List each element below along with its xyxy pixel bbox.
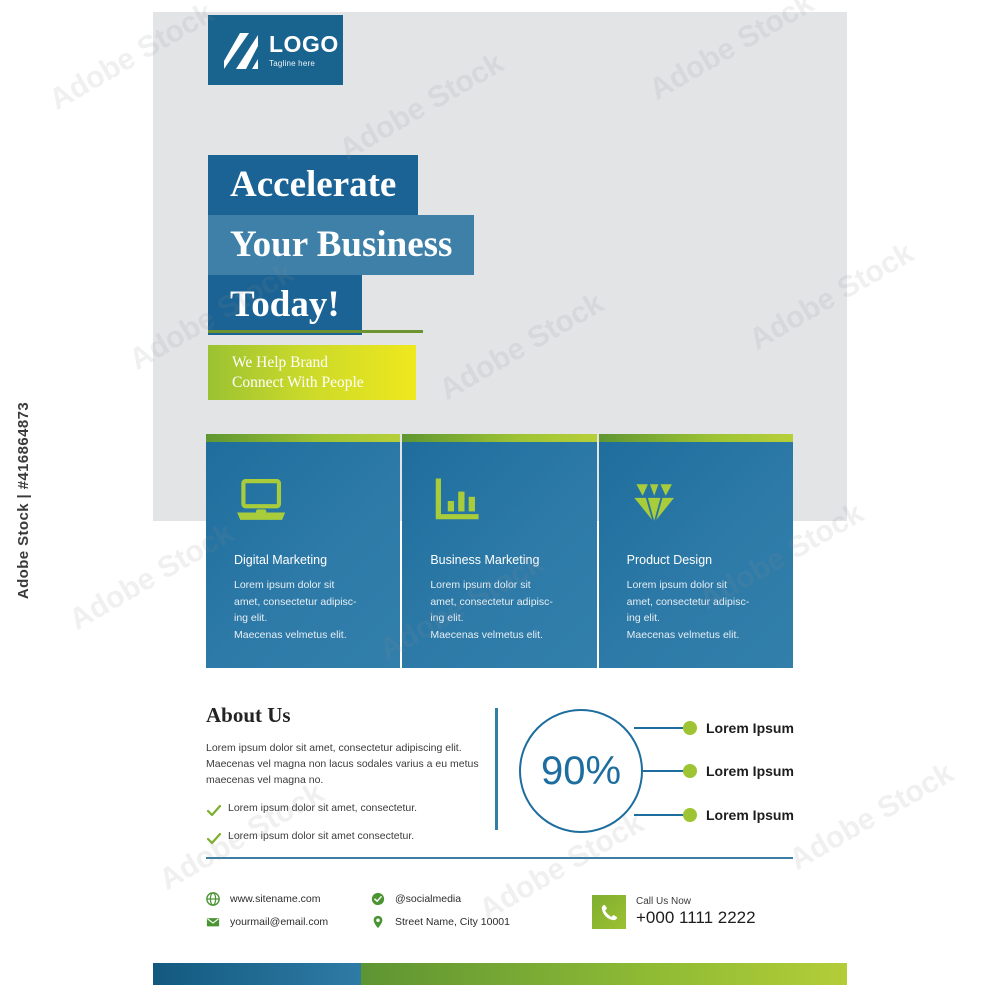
call-us-number: +000 1111 2222	[636, 908, 756, 928]
percent-chart: 90% Lorem Ipsum Lorem Ipsum Lorem Ipsum	[516, 706, 801, 836]
chart-legend-item-2: Lorem Ipsum	[706, 763, 794, 779]
card-title: Digital Marketing	[234, 553, 382, 567]
tagline-box: We Help Brand Connect With People	[208, 345, 416, 400]
chart-legend-item-1: Lorem Ipsum	[706, 720, 794, 736]
about-section: About Us Lorem ipsum dolor sit amet, con…	[206, 703, 481, 858]
contact-email-label: yourmail@email.com	[230, 916, 328, 928]
card-body: Lorem ipsum dolor sit amet, consectetur …	[430, 577, 578, 643]
chart-legend-item-3: Lorem Ipsum	[706, 807, 794, 823]
logo-title: LOGO	[269, 33, 339, 56]
call-us-block[interactable]: Call Us Now +000 1111 2222	[592, 895, 756, 929]
card-body: Lorem ipsum dolor sit amet, consectetur …	[627, 577, 775, 643]
footer-divider	[206, 857, 793, 859]
headline-line-1: Accelerate	[208, 155, 418, 215]
call-us-label: Call Us Now	[636, 896, 756, 907]
about-body: Lorem ipsum dolor sit amet, consectetur …	[206, 741, 481, 789]
service-card-product-design[interactable]: Product Design Lorem ipsum dolor sit ame…	[599, 434, 793, 668]
service-card-business-marketing[interactable]: Business Marketing Lorem ipsum dolor sit…	[402, 434, 596, 668]
flyer-page: LOGO Tagline here Accelerate Your Busine…	[0, 0, 1000, 1000]
card-accent-bar	[402, 434, 596, 442]
card-title: Business Marketing	[430, 553, 578, 567]
contact-address-label: Street Name, City 10001	[395, 916, 510, 928]
envelope-icon	[206, 915, 222, 929]
check-circle-icon	[371, 892, 387, 906]
contact-block: www.sitename.com yourmail@email.com	[206, 892, 510, 938]
about-bullet: Lorem ipsum dolor sit amet consectetur.	[206, 830, 481, 847]
contact-website-label: www.sitename.com	[230, 893, 320, 905]
about-title: About Us	[206, 703, 481, 728]
phone-icon-box	[592, 895, 626, 929]
headline-divider	[208, 330, 423, 333]
about-bullet: Lorem ipsum dolor sit amet, consectetur.	[206, 802, 481, 819]
card-title: Product Design	[627, 553, 775, 567]
contact-social[interactable]: @socialmedia	[371, 892, 510, 906]
contact-address[interactable]: Street Name, City 10001	[371, 915, 510, 929]
contact-email[interactable]: yourmail@email.com	[206, 915, 371, 929]
check-icon	[206, 831, 222, 847]
globe-icon	[206, 892, 222, 906]
bar-chart-icon	[430, 478, 484, 524]
headline-line-3: Today!	[208, 275, 362, 335]
diamond-icon	[627, 478, 681, 524]
contact-website[interactable]: www.sitename.com	[206, 892, 371, 906]
footer-bar	[153, 963, 847, 985]
about-bullet-label: Lorem ipsum dolor sit amet, consectetur.	[228, 802, 417, 814]
chart-left-rule	[495, 708, 498, 830]
check-icon	[206, 803, 222, 819]
tagline-line-2: Connect With People	[232, 373, 416, 393]
laptop-icon	[234, 478, 288, 524]
footer-bar-blue	[153, 963, 361, 985]
footer-bar-green	[361, 963, 847, 985]
headline-line-2: Your Business	[208, 215, 474, 275]
about-bullet-label: Lorem ipsum dolor sit amet consectetur.	[228, 830, 414, 842]
card-accent-bar	[206, 434, 400, 442]
contact-social-label: @socialmedia	[395, 893, 461, 905]
logo-block: LOGO Tagline here	[208, 15, 343, 85]
service-cards: Digital Marketing Lorem ipsum dolor sit …	[206, 434, 793, 668]
diagonal-stripes-square-icon	[222, 31, 260, 69]
service-card-digital-marketing[interactable]: Digital Marketing Lorem ipsum dolor sit …	[206, 434, 400, 668]
logo-tagline: Tagline here	[269, 59, 339, 68]
card-body: Lorem ipsum dolor sit amet, consectetur …	[234, 577, 382, 643]
headline-block: Accelerate Your Business Today!	[208, 155, 474, 335]
tagline-line-1: We Help Brand	[232, 353, 416, 373]
phone-icon	[600, 903, 619, 922]
card-accent-bar	[599, 434, 793, 442]
percent-value: 90%	[516, 706, 646, 836]
location-pin-icon	[371, 915, 387, 929]
